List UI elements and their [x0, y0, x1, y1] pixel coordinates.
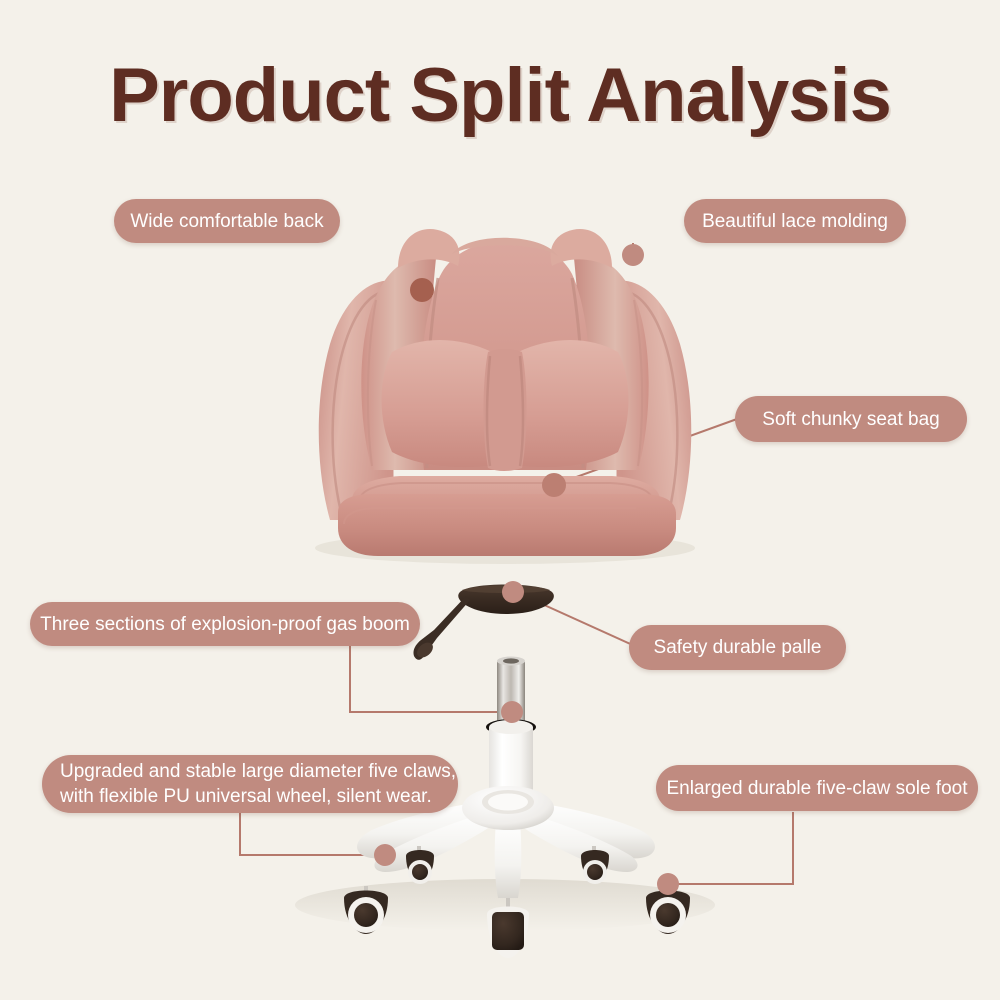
- connector-gas-boom: [350, 645, 512, 712]
- callout-label: Safety durable palle: [654, 635, 822, 660]
- callout-enlarged-sole-foot[interactable]: Enlarged durable five-claw sole foot: [656, 765, 978, 811]
- dot-gas-boom: [501, 701, 523, 723]
- callout-soft-chunky-seat-bag[interactable]: Soft chunky seat bag: [735, 396, 967, 442]
- caster-wheel-front-left: [354, 903, 378, 927]
- callout-label: Beautiful lace molding: [702, 209, 888, 234]
- callout-label: Soft chunky seat bag: [762, 407, 939, 432]
- gas-lift-cylinder: [486, 657, 536, 793]
- dot-five-claws: [374, 844, 396, 866]
- callout-safety-durable-palle[interactable]: Safety durable palle: [629, 625, 846, 670]
- connector-enlarged-sole-foot: [670, 812, 793, 884]
- callout-label-line1: Upgraded and stable large diameter five …: [60, 759, 456, 784]
- caster-rear-right: [581, 846, 609, 884]
- caster-wheel-front-center: [492, 912, 524, 950]
- dot-soft-chunky-seat-bag: [542, 473, 566, 497]
- callout-three-sections-gas-boom[interactable]: Three sections of explosion-proof gas bo…: [30, 602, 420, 646]
- callout-label: Wide comfortable back: [130, 209, 323, 234]
- callout-label: Enlarged durable five-claw sole foot: [667, 776, 968, 801]
- caster-wheel-rear-left: [412, 864, 428, 880]
- dot-enlarged-sole-foot: [657, 873, 679, 895]
- dot-beautiful-lace-molding: [622, 244, 644, 266]
- base-arm-front-center: [495, 820, 522, 898]
- gas-lift-sleeve: [489, 727, 533, 792]
- dot-wide-comfortable-back: [410, 278, 434, 302]
- dot-safety-durable-palle: [502, 581, 524, 603]
- caster-front-left: [344, 886, 388, 934]
- base-hub-bore: [488, 794, 528, 811]
- callout-wide-comfortable-back[interactable]: Wide comfortable back: [114, 199, 340, 243]
- piston-bore: [503, 658, 519, 663]
- seat-base: [338, 494, 676, 556]
- caster-rear-left: [406, 846, 434, 884]
- caster-wheel-front-right: [656, 903, 680, 927]
- callout-beautiful-lace-molding[interactable]: Beautiful lace molding: [684, 199, 906, 243]
- tilt-mechanism-plate: [413, 585, 553, 661]
- callout-label: Three sections of explosion-proof gas bo…: [40, 612, 410, 637]
- callout-upgraded-five-claws[interactable]: Upgraded and stable large diameter five …: [42, 755, 458, 813]
- chair-seat-unit: [315, 229, 695, 564]
- infographic-page: Product Split Analysis: [0, 0, 1000, 1000]
- callout-label-line2: with flexible PU universal wheel, silent…: [60, 784, 432, 809]
- caster-wheel-rear-right: [587, 864, 603, 880]
- product-illustration: [0, 0, 1000, 1000]
